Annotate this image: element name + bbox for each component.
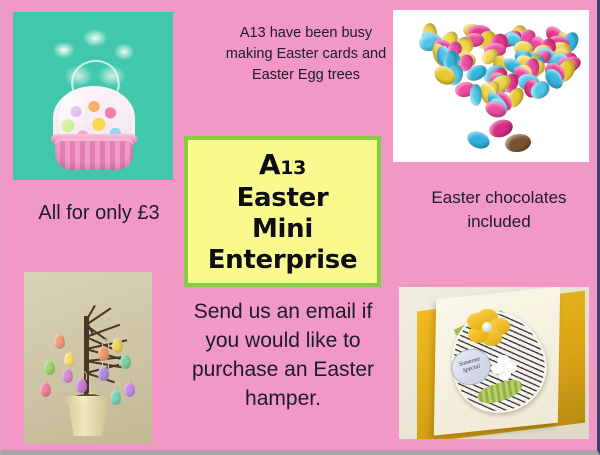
chocolates-included-text: Easter chocolates included [409, 186, 589, 234]
email-call-to-action-text: Send us an email if you would like to pu… [189, 297, 377, 413]
price-text: All for only £3 [15, 200, 183, 226]
title-line-easter: Easter [237, 185, 329, 212]
easter-egg-tree-photo [24, 272, 152, 444]
hanging-easter-egg [110, 390, 121, 405]
brand-number: 13 [280, 157, 306, 179]
hanging-easter-egg [120, 354, 131, 369]
wrapped-easter-basket-photo [13, 12, 173, 180]
title-line-mini: Mini [252, 216, 313, 243]
hanging-easter-egg [76, 378, 87, 393]
hanging-easter-egg [112, 338, 123, 353]
intro-text: A13 have been busy making Easter cards a… [223, 23, 389, 86]
title-line-enterprise: Enterprise [208, 247, 358, 274]
hanging-easter-egg [64, 352, 75, 367]
hanging-easter-egg [98, 346, 109, 361]
card-tag-text: Someone Special [455, 355, 486, 376]
pink-woven-basket [55, 138, 133, 170]
hanging-easter-egg [54, 334, 65, 349]
hanging-easter-egg [44, 360, 55, 375]
flower-pot [68, 400, 108, 436]
handmade-easter-card-photo: Someone Special [399, 287, 589, 439]
loose-foil-egg [504, 132, 532, 153]
easter-mini-enterprise-poster: Someone Special A13 have been busy makin… [0, 0, 600, 455]
foil-egg [469, 84, 481, 106]
hanging-easter-egg [62, 368, 73, 383]
card-yellow-flower [467, 309, 511, 349]
white-petal [491, 363, 504, 374]
brand-name: A13 [259, 150, 306, 179]
mini-egg-pile [393, 16, 589, 128]
flower-pot-rim [65, 396, 111, 404]
hanging-easter-egg [124, 382, 135, 397]
hanging-easter-egg [98, 366, 109, 381]
foil-mini-eggs-photo [393, 10, 589, 162]
flower-center-pearl [482, 322, 492, 332]
loose-foil-egg [465, 128, 492, 151]
brand-letter: A [259, 148, 280, 181]
title-box: A13 Easter Mini Enterprise [184, 136, 381, 287]
card-white-flower [491, 355, 517, 381]
hanging-easter-egg [40, 382, 51, 397]
